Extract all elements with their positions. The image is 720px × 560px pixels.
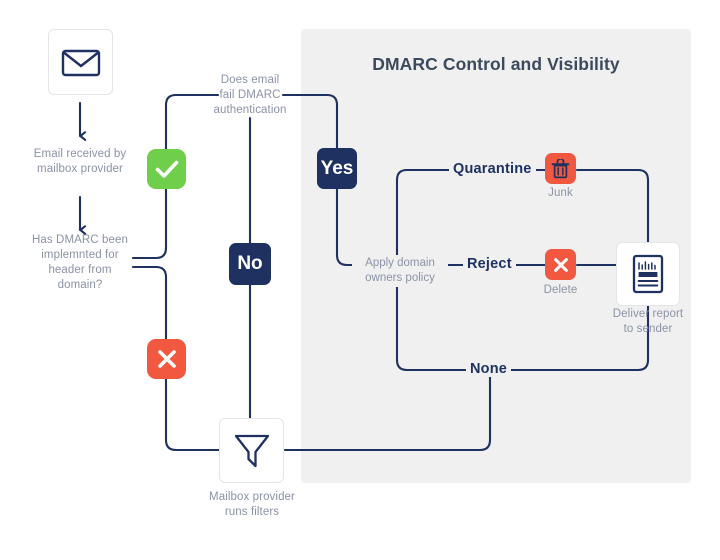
report-label: Deliver reportto sender (600, 307, 696, 337)
delete-label: Delete (519, 283, 602, 298)
route-label-quarantine: Quarantine (449, 161, 536, 177)
apply-policy-label: Apply domainowners policy (352, 255, 448, 287)
envelope-icon (61, 47, 101, 77)
cross-icon (552, 256, 570, 274)
route-label-reject: Reject (463, 256, 516, 272)
junk-label: Junk (519, 186, 602, 201)
dmarc-question-label: Does emailfail DMARCauthentication (198, 73, 302, 118)
no-badge: No (229, 243, 271, 285)
panel-title: DMARC Control and Visibility (301, 54, 691, 75)
route-label-none: None (466, 361, 511, 377)
check-icon (155, 160, 179, 179)
envelope-card (48, 29, 113, 95)
report-card (616, 242, 680, 306)
document-icon (632, 254, 664, 294)
filter-card (219, 418, 284, 483)
trash-icon (551, 159, 570, 179)
email-received-label: Email received bymailbox provider (14, 147, 146, 177)
cross-badge (147, 339, 186, 379)
yes-badge: Yes (317, 148, 357, 189)
cross-icon (156, 348, 178, 370)
diagram-canvas: Email received bymailbox provider Has DM… (0, 0, 720, 560)
dmarc-implemented-label: Has DMARC beenimplemnted forheader fromd… (14, 233, 146, 293)
check-badge (147, 149, 186, 189)
junk-chip (545, 153, 576, 184)
filter-label: Mailbox providerruns filters (190, 490, 314, 520)
funnel-icon (233, 431, 271, 471)
delete-chip (545, 249, 576, 280)
